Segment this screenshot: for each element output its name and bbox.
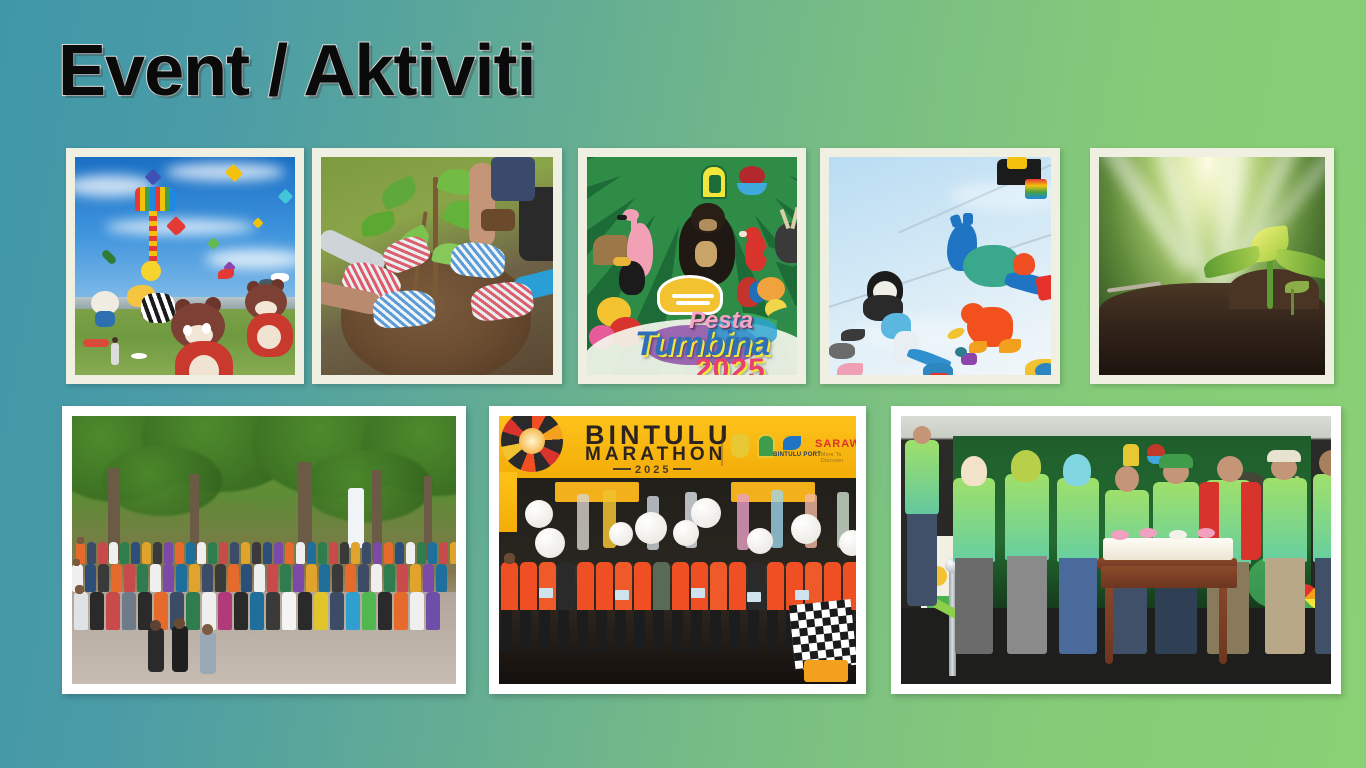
table-apron: [1101, 566, 1237, 588]
official-polo: [1005, 474, 1049, 560]
flower-orange: [757, 277, 785, 301]
seahorse-fin: [963, 213, 973, 225]
official-polo: [905, 440, 939, 516]
photo-cake-cutting-ceremony: [901, 416, 1331, 684]
race-bib: [795, 590, 809, 600]
cloud-shape: [205, 249, 295, 269]
gallery-item-tree-planting-gloves[interactable]: [312, 148, 562, 384]
official-pants: [1059, 558, 1097, 654]
crest-inner: [709, 175, 721, 193]
official-polo: [953, 478, 995, 562]
bear-kite-body-shape: [95, 311, 115, 327]
kite-shape: [218, 269, 234, 279]
flamingo-beak: [617, 215, 627, 220]
feather-flag: [577, 494, 589, 550]
cake-flower: [1197, 528, 1215, 538]
hornbill-beak: [613, 257, 631, 266]
sapling-stem: [433, 177, 438, 307]
photo-seedling-sunlight: [1099, 157, 1325, 375]
chipmunk-kite: [243, 279, 295, 363]
ground-tent-shape: [83, 339, 109, 347]
kite-yellow: [1007, 157, 1027, 169]
child-head: [202, 624, 213, 635]
kite-orange-small: [1013, 253, 1035, 275]
child-head: [150, 620, 161, 631]
official-head: [1217, 456, 1243, 482]
photo-kite-festival-field: [75, 157, 295, 375]
official-pants: [1265, 558, 1305, 654]
photo-tree-planting-gloves: [321, 157, 553, 375]
sponsor-sarawak-sublabel: More To Discover: [821, 452, 856, 464]
arch-light-box: [555, 482, 639, 502]
child-head: [174, 618, 185, 629]
boot-shape: [481, 209, 515, 231]
event-banner-flag: [348, 488, 364, 548]
cake-flower: [1139, 528, 1157, 538]
badge-line: [672, 294, 714, 298]
macaw-head: [745, 227, 761, 241]
gallery-item-community-run-group-photo[interactable]: [62, 406, 466, 694]
kite-small-pink: [837, 363, 863, 375]
gallery-item-kite-festival-field[interactable]: [66, 148, 304, 384]
flag-logo-patch: [804, 660, 848, 682]
runner-row: [501, 562, 856, 610]
gallery-item-pesta-tumbina-poster[interactable]: Pesta Tumbina 2025: [578, 148, 806, 384]
race-bib: [747, 592, 761, 602]
badge-line: [676, 301, 710, 305]
macaw-beak: [739, 231, 747, 237]
seedling-sprout-stem: [1291, 289, 1294, 315]
official-head: [913, 426, 931, 444]
orange-creature-kite-head: [961, 303, 985, 325]
kite-small-gray: [829, 343, 855, 359]
official-polo: [1263, 478, 1307, 562]
person-head: [112, 337, 118, 343]
balloon: [635, 512, 667, 544]
official-cap: [1267, 450, 1301, 462]
seedling-sprout-small: [1285, 281, 1309, 293]
bintulu-port-icon: [783, 436, 801, 450]
gallery-item-bintulu-marathon-2025[interactable]: BINTULU MARATHON 2025 BINTULU PORT SARAW…: [489, 406, 866, 694]
chipmunk-eye: [183, 325, 192, 336]
kite-tail-shape: [149, 211, 157, 265]
title-rule-right: [673, 468, 691, 470]
sun-bear-chest-patch: [695, 241, 717, 267]
photo-animal-kites-sky: [829, 157, 1051, 375]
tree-canopy: [102, 446, 222, 516]
tree-canopy: [302, 450, 432, 522]
race-bib: [615, 590, 629, 600]
crowd-row-back: [76, 542, 456, 564]
orange-creature-kite-foot: [969, 341, 987, 353]
gallery-item-animal-kites-sky[interactable]: [820, 148, 1060, 384]
kite-small-black: [841, 329, 865, 341]
page-title: Event / Aktiviti: [58, 34, 535, 110]
official-pants: [907, 514, 937, 606]
kite-bottom-red: [929, 373, 949, 375]
chipmunk-eye: [202, 323, 211, 334]
marathon-title-line3: 2025: [635, 464, 671, 476]
kite-small-teal: [955, 347, 967, 357]
child-figure: [200, 632, 216, 674]
gallery-item-seedling-sunlight[interactable]: [1090, 148, 1334, 384]
cake-flower: [1169, 530, 1187, 540]
photo-pesta-tumbina-poster: Pesta Tumbina 2025: [587, 157, 797, 375]
kite-tassel-shape: [135, 187, 175, 211]
official-polo: [1313, 474, 1331, 562]
crowd-row-front: [74, 592, 442, 630]
official-pants: [1315, 558, 1331, 654]
child-figure: [148, 628, 164, 672]
ceremony-cake: [1103, 538, 1233, 560]
photo-bintulu-marathon-2025: BINTULU MARATHON 2025 BINTULU PORT SARAW…: [499, 416, 856, 684]
orange-creature-kite-foot: [999, 339, 1021, 353]
ground-kite-shape: [131, 353, 147, 359]
trouser-shape: [491, 157, 535, 201]
sun-bear-muzzle: [699, 219, 717, 231]
cake-flower: [1111, 530, 1129, 540]
official-cap: [1159, 454, 1193, 468]
official-hijab: [1011, 450, 1041, 482]
child-figure: [172, 626, 188, 672]
poster-title-line3: 2025: [695, 353, 766, 375]
chipmunk-kite: [169, 297, 243, 375]
gallery-item-cake-cutting-ceremony[interactable]: [891, 406, 1341, 694]
marathon-title-line2: MARATHON: [585, 444, 726, 466]
sunburst-center: [519, 428, 545, 454]
chipmunk-belly: [257, 325, 281, 349]
balloon: [535, 528, 565, 558]
sarawak-crest-logo: [701, 165, 727, 199]
sponsor-bintulu-port-label: BINTULU PORT: [773, 452, 821, 458]
person-figure: [111, 343, 119, 365]
balloon: [747, 528, 773, 554]
official-hijab: [1063, 454, 1091, 486]
race-bib: [539, 588, 553, 598]
balloon: [525, 500, 553, 528]
photo-community-run-group-photo: [72, 416, 456, 684]
sponsor-sarawak-label: SARAWAK: [815, 438, 856, 450]
kite-bottom-blue: [1035, 363, 1051, 375]
official-vest-red: [1241, 482, 1261, 560]
slide-root: Event / Aktiviti: [0, 0, 1366, 768]
official-hijab: [961, 456, 987, 486]
race-bib: [691, 588, 705, 598]
balloon: [609, 522, 633, 546]
title-rule-left: [613, 468, 631, 470]
arch-leg-left: [499, 472, 517, 532]
sponsor-divider: [721, 430, 723, 466]
official-pants: [955, 558, 993, 654]
official-head: [1115, 466, 1139, 492]
hornbill-shape: [619, 261, 645, 295]
official-pants: [1007, 556, 1047, 654]
kite-rainbow-tail: [1025, 179, 1047, 199]
sarawak-crest-icon: [731, 434, 749, 458]
balloon: [791, 514, 821, 544]
official-polo: [1057, 478, 1099, 562]
balloon: [691, 498, 721, 528]
crowd-row-middle: [72, 564, 449, 592]
smiley-kite-shape: [141, 261, 161, 281]
sarawak-crest-icon: [1123, 444, 1139, 466]
